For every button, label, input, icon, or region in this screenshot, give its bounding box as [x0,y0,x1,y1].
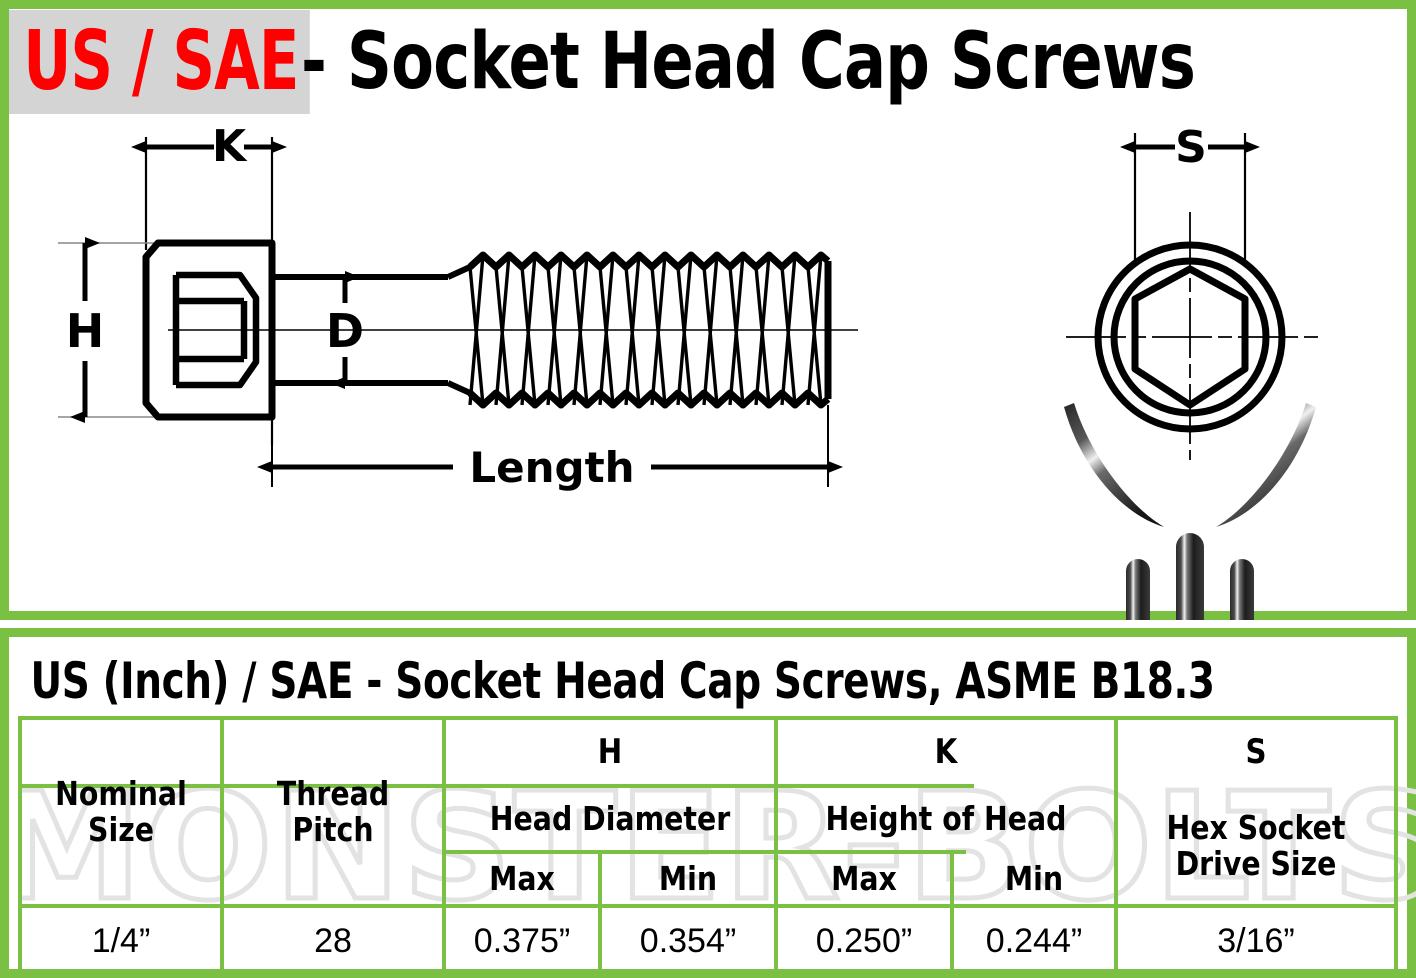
spec-table-panel: US (Inch) / SAE - Socket Head Cap Screws… [0,628,1416,978]
hex-key-shaft-right [1230,559,1254,620]
socket-head-cap-screw-side-view: K H [58,121,858,492]
nominal-size-line2: Size [88,812,154,848]
column-header-height-of-head: Height of Head [802,788,1091,850]
title-highlight-text: US / SAE [9,10,310,114]
thread-pitch-line2: Pitch [292,812,373,848]
grid-line-h [18,974,1398,978]
hex-key-shaft-left [1126,559,1150,620]
column-header-nominal-size: Nominal Size [36,720,206,904]
column-header-height-of-head-max: Max [790,854,938,904]
spec-table: MONSTER-BOLTS Nomin [18,716,1416,978]
diagram-panel: US / SAE - Socket Head Cap Screws [0,0,1416,620]
cell-thread-pitch: 28 [224,908,442,974]
dimension-label-d: D [326,304,364,358]
cell-height-of-head-max: 0.250” [778,908,950,974]
grid-line-v [1394,716,1398,974]
column-header-k-letter: K [802,720,1091,784]
table-title: US (Inch) / SAE - Socket Head Cap Screws… [18,646,1416,716]
nominal-size-line1: Nominal [55,776,187,812]
dimension-label-s: S [1175,122,1207,173]
table-grid: Nominal Size Thread Pitch H Head Diamete… [18,716,1416,978]
column-header-h-letter: H [469,720,751,784]
cell-head-diameter-max: 0.375” [446,908,598,974]
column-header-thread-pitch: Thread Pitch [239,720,426,904]
column-header-head-diameter-max: Max [457,854,588,904]
hex-socket-line1: Hex Socket [1167,810,1346,846]
dimension-label-k: K [212,121,248,172]
dimension-label-h: H [66,304,105,358]
technical-drawing: K H [18,115,1416,620]
cell-nominal-size: 1/4” [22,908,220,974]
thread-pitch-line1: Thread [277,776,389,812]
column-header-height-of-head-min: Min [965,854,1103,904]
table-title-text: US (Inch) / SAE - Socket Head Cap Screws… [18,652,1215,710]
dimension-label-length: Length [469,443,634,492]
cell-hex-socket-drive-size: 3/16” [1118,908,1394,974]
column-header-head-diameter: Head Diameter [469,788,751,850]
column-header-head-diameter-min: Min [614,854,762,904]
cell-head-diameter-min: 0.354” [602,908,774,974]
hex-socket-line2: Drive Size [1176,846,1337,882]
column-header-hex-socket-drive-size: Hex Socket Drive Size [1137,788,1374,904]
hex-socket-top-view: S [1066,122,1318,460]
cell-height-of-head-min: 0.244” [954,908,1114,974]
spec-sheet-page: US / SAE - Socket Head Cap Screws [0,0,1416,978]
title-rest-text: - Socket Head Cap Screws [301,17,1195,107]
page-title: US / SAE - Socket Head Cap Screws [9,9,1407,115]
column-header-s-letter: S [1137,720,1374,784]
hex-key-shaft-center [1176,533,1204,620]
